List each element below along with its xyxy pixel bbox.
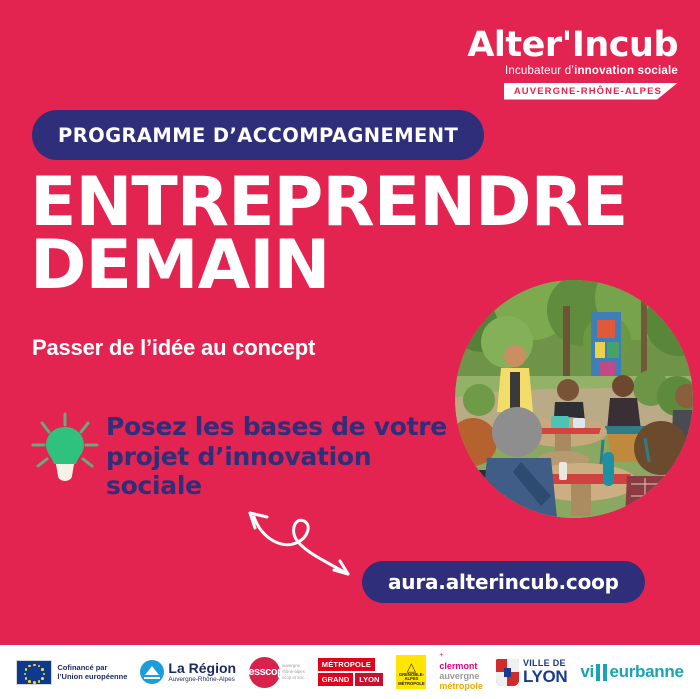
logo-metropole-grand-lyon: MÉTROPOLE GRAND LYON bbox=[318, 655, 384, 689]
clermont-plus-icon: + bbox=[439, 652, 483, 660]
logo-clermont-auvergne-metropole: + clermont auvergne métropole bbox=[439, 655, 483, 689]
ville-de-lyon-line-2: LYON bbox=[523, 668, 567, 685]
brand-tagline-bold: innovation sociale bbox=[574, 65, 678, 77]
brand-tagline-plain: Incubateur d’ bbox=[505, 65, 574, 77]
eu-label: Cofinancé par l’Union européenne bbox=[57, 663, 127, 682]
logo-les-scop: lesscop auvergne rhône-alpes scop et sci… bbox=[249, 655, 305, 689]
partner-logos-bar: Cofinancé par l’Union européenne La Régi… bbox=[0, 645, 700, 699]
tagline-line-2: projet d’innovation sociale bbox=[106, 442, 450, 501]
clermont-line-2: auvergne bbox=[439, 671, 483, 681]
tagline-line-1: Posez les bases de votre bbox=[106, 412, 450, 442]
grenoble-mark-icon: △ bbox=[407, 661, 416, 673]
logo-la-region: La Région Auvergne-Rhône-Alpes bbox=[140, 655, 236, 689]
programme-badge-label: PROGRAMME D’ACCOMPAGNEMENT bbox=[58, 124, 458, 147]
eu-flag-icon bbox=[16, 660, 52, 685]
clermont-line-1: clermont bbox=[439, 661, 483, 671]
region-mark-icon bbox=[140, 660, 164, 684]
poster-canvas: Alter'Incub Incubateur d’innovation soci… bbox=[0, 0, 700, 699]
region-subtitle: Auvergne-Rhône-Alpes bbox=[168, 676, 236, 683]
programme-badge: PROGRAMME D’ACCOMPAGNEMENT bbox=[32, 110, 484, 160]
tagline-block: Posez les bases de votre projet d’innova… bbox=[30, 412, 450, 501]
ville-de-lyon-label: VILLE DE LYON bbox=[523, 659, 567, 685]
eu-label-line-2: l’Union européenne bbox=[57, 672, 127, 681]
scop-mark-icon: lesscop bbox=[249, 657, 280, 688]
scop-mark-label: lesscop bbox=[246, 666, 283, 678]
logo-ville-de-lyon: VILLE DE LYON bbox=[496, 655, 567, 689]
brand-tagline: Incubateur d’innovation sociale bbox=[408, 66, 678, 78]
brand-name: Alter'Incub bbox=[408, 28, 678, 63]
brand-region-ribbon: AUVERGNE-RHÔNE-ALPES bbox=[504, 83, 678, 100]
website-url-button[interactable]: aura.alterincub.coop bbox=[362, 561, 645, 603]
logo-european-union: Cofinancé par l’Union européenne bbox=[16, 655, 127, 689]
grandlyon-grand-label: GRAND bbox=[318, 673, 354, 686]
lyon-coat-of-arms-icon bbox=[496, 659, 519, 686]
page-title: ENTREPRENDRE DEMAIN bbox=[30, 172, 650, 297]
workshop-photo bbox=[455, 280, 693, 518]
tagline-text: Posez les bases de votre projet d’innova… bbox=[106, 412, 450, 501]
curly-arrow-icon bbox=[240, 503, 380, 588]
logo-villeurbanne: vi eurbanne bbox=[580, 655, 683, 689]
grandlyon-metropole-label: MÉTROPOLE bbox=[318, 658, 375, 671]
eu-label-line-1: Cofinancé par bbox=[57, 663, 127, 672]
grenoble-label-line-2: MÉTROPOLE bbox=[396, 682, 426, 687]
region-title: La Région bbox=[168, 661, 236, 675]
region-label: La Région Auvergne-Rhône-Alpes bbox=[168, 661, 236, 683]
lightbulb-icon bbox=[30, 412, 100, 484]
scop-sidetext-line-3: scop et scic bbox=[282, 675, 305, 681]
villeurbanne-prefix: vi bbox=[580, 662, 594, 682]
scop-sidetext: auvergne rhône-alpes scop et scic bbox=[282, 663, 305, 680]
brand-logo: Alter'Incub Incubateur d’innovation soci… bbox=[408, 28, 678, 100]
grandlyon-lyon-label: LYON bbox=[355, 673, 383, 686]
grenoble-tile-icon: △ GRENOBLE-ALPES MÉTROPOLE bbox=[396, 655, 426, 689]
grenoble-label: GRENOBLE-ALPES MÉTROPOLE bbox=[396, 673, 426, 687]
villeurbanne-bars-icon bbox=[596, 664, 608, 681]
villeurbanne-suffix: eurbanne bbox=[609, 662, 683, 682]
logo-grenoble-alpes-metropole: △ GRENOBLE-ALPES MÉTROPOLE bbox=[396, 655, 426, 689]
clermont-line-3: métropole bbox=[439, 681, 483, 691]
subtitle: Passer de l’idée au concept bbox=[32, 335, 315, 361]
website-url-label: aura.alterincub.coop bbox=[388, 570, 619, 594]
